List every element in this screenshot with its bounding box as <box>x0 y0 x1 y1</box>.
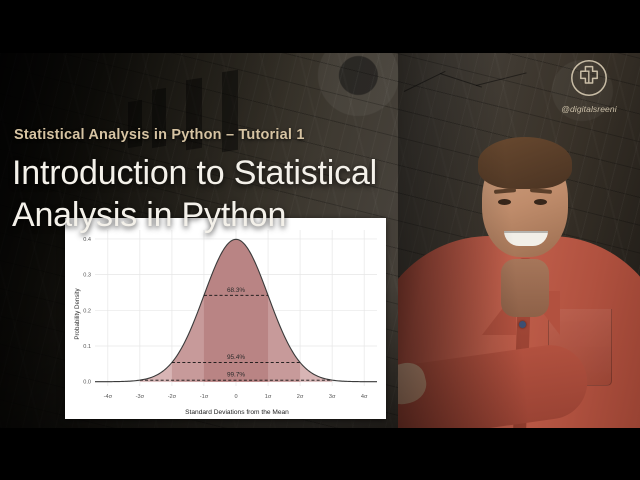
y-tick-label: 0.4 <box>83 237 91 243</box>
slide-stage: Statistical Analysis in Python – Tutoria… <box>0 53 640 428</box>
chart-annotation: 99.7% <box>227 372 245 379</box>
x-tick-label: 1σ <box>265 394 272 400</box>
slide-subtitle: Statistical Analysis in Python – Tutoria… <box>14 127 305 143</box>
chart-x-axis-title: Standard Deviations from the Mean <box>185 409 289 416</box>
chart-annotation: 95.4% <box>227 354 245 361</box>
x-tick-label: 2σ <box>297 394 304 400</box>
x-tick-label: -4σ <box>104 394 113 400</box>
chart-y-axis-title: Probability Density <box>74 287 81 339</box>
channel-logo[interactable]: @digitalsreeni <box>552 58 626 114</box>
x-tick-label: 0 <box>234 394 237 400</box>
normal-distribution-chart: 68.3%95.4%99.7% -4σ-3σ-2σ-1σ01σ2σ3σ4σ 0.… <box>65 218 386 419</box>
x-tick-label: 3σ <box>329 394 336 400</box>
page-title: Introduction to Statistical Analysis in … <box>12 152 442 236</box>
letterbox-bottom <box>0 428 640 480</box>
video-slide: Statistical Analysis in Python – Tutoria… <box>0 0 640 480</box>
x-tick-label: -2σ <box>168 394 177 400</box>
x-tick-label: -3σ <box>136 394 145 400</box>
y-tick-label: 0.1 <box>83 344 91 350</box>
y-tick-label: 0.0 <box>83 380 91 386</box>
channel-handle: @digitalsreeni <box>552 104 626 114</box>
y-tick-label: 0.3 <box>83 273 91 279</box>
x-tick-label: 4σ <box>361 394 368 400</box>
cross-monogram-icon <box>569 58 609 98</box>
letterbox-top <box>0 0 640 53</box>
chart-annotation: 68.3% <box>227 287 245 294</box>
title-line-2: Analysis in Python <box>12 194 442 236</box>
title-line-1: Introduction to Statistical <box>12 152 442 194</box>
chart-x-ticks: -4σ-3σ-2σ-1σ01σ2σ3σ4σ <box>104 394 368 400</box>
y-tick-label: 0.2 <box>83 308 91 314</box>
chart-svg: 68.3%95.4%99.7% -4σ-3σ-2σ-1σ01σ2σ3σ4σ 0.… <box>65 218 386 419</box>
x-tick-label: -1σ <box>200 394 209 400</box>
